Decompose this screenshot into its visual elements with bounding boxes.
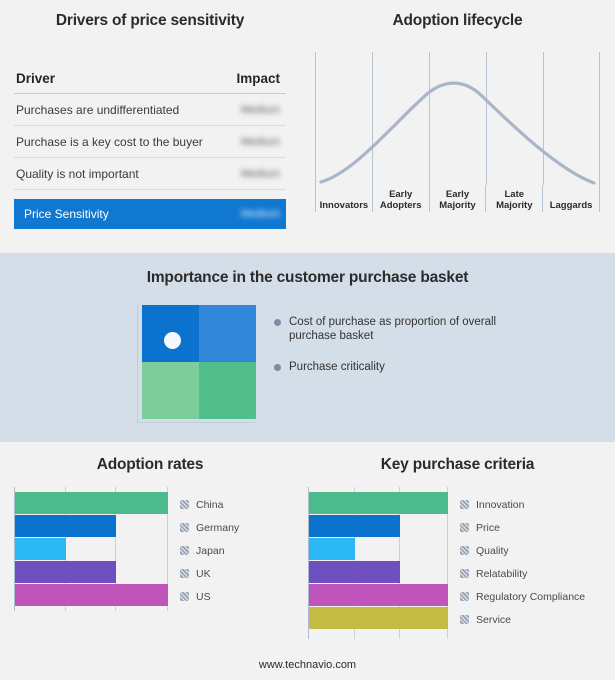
bar-uk[interactable] (15, 561, 116, 583)
basket-panel-title: Importance in the customer purchase bask… (0, 253, 615, 287)
legend-label: US (196, 591, 211, 603)
basket-legend: Cost of purchase as proportion of overal… (274, 315, 574, 391)
table-header-row: Driver Impact (14, 64, 286, 94)
quadrant-top-right[interactable] (199, 305, 256, 362)
legend-label: Regulatory Compliance (476, 591, 585, 603)
legend-item: Cost of purchase as proportion of overal… (274, 315, 574, 343)
bar-quality[interactable] (309, 538, 355, 560)
bullet-icon (274, 319, 281, 326)
column-header-driver: Driver (16, 71, 55, 86)
legend-item[interactable]: Price (460, 516, 585, 539)
adoption-rates-title: Adoption rates (0, 442, 300, 474)
driver-label: Purchases are undifferentiated (16, 103, 179, 117)
adoption-lifecycle-chart: Innovators EarlyAdopters EarlyMajority L… (315, 52, 600, 212)
key-purchase-criteria-legend: Innovation Price Quality Relatability (460, 493, 585, 631)
legend-item: Purchase criticality (274, 360, 574, 374)
bar-row[interactable] (309, 538, 448, 560)
legend-label: UK (196, 568, 211, 580)
impact-value-redacted: Medium (241, 136, 280, 148)
bar-row[interactable] (309, 515, 448, 537)
bar-row[interactable] (309, 561, 448, 583)
legend-item[interactable]: Service (460, 608, 585, 631)
bar-row[interactable] (309, 607, 448, 629)
footer-url: www.technavio.com (0, 659, 615, 671)
hatch-swatch-icon (180, 592, 189, 601)
legend-item[interactable]: UK (180, 562, 239, 585)
key-purchase-criteria-panel: Key purchase criteria (300, 442, 615, 680)
legend-item[interactable]: Quality (460, 539, 585, 562)
table-row[interactable]: Quality is not important Medium (14, 158, 286, 190)
lifecycle-panel-title: Adoption lifecycle (300, 0, 615, 30)
table-row[interactable]: Purchases are undifferentiated Medium (14, 94, 286, 126)
hatch-swatch-icon (460, 569, 469, 578)
top-section: Drivers of price sensitivity Driver Impa… (0, 0, 615, 253)
legend-item[interactable]: Relatability (460, 562, 585, 585)
lifecycle-segment-late-majority: LateMajority (485, 185, 542, 212)
segment-label: Laggards (550, 200, 593, 211)
bar-price[interactable] (309, 515, 400, 537)
legend-label: Germany (196, 522, 239, 534)
legend-item[interactable]: Regulatory Compliance (460, 585, 585, 608)
segment-label: Innovators (320, 200, 369, 211)
bar-innovation[interactable] (309, 492, 448, 514)
bar-row[interactable] (15, 492, 168, 514)
bar-service[interactable] (309, 607, 448, 629)
key-purchase-criteria-plot (308, 487, 448, 639)
column-header-impact: Impact (236, 71, 280, 86)
driver-label: Price Sensitivity (24, 207, 109, 221)
legend-label: Japan (196, 545, 225, 557)
quadrant-matrix (137, 305, 255, 423)
key-purchase-criteria-chart: Innovation Price Quality Relatability (308, 487, 615, 639)
bar-row[interactable] (15, 561, 168, 583)
drivers-table: Driver Impact Purchases are undifferenti… (14, 64, 286, 229)
impact-value-redacted: Medium (241, 104, 280, 116)
position-marker-dot (164, 332, 181, 349)
lifecycle-labels: Innovators EarlyAdopters EarlyMajority L… (315, 185, 600, 212)
legend-item[interactable]: China (180, 493, 239, 516)
lifecycle-segment-laggards: Laggards (542, 185, 600, 212)
impact-value-redacted: Medium (241, 208, 280, 220)
purchase-basket-section: Importance in the customer purchase bask… (0, 253, 615, 442)
segment-label-line1: Early (389, 189, 412, 200)
hatch-swatch-icon (460, 523, 469, 532)
bar-relatability[interactable] (309, 561, 400, 583)
segment-label-line1: Early (446, 189, 469, 200)
bar-germany[interactable] (15, 515, 116, 537)
bar-row[interactable] (15, 515, 168, 537)
bar-row[interactable] (309, 584, 448, 606)
hatch-swatch-icon (180, 500, 189, 509)
segment-label-line2: Majority (439, 200, 475, 211)
legend-item[interactable]: Innovation (460, 493, 585, 516)
legend-label: Service (476, 614, 511, 626)
bar-japan[interactable] (15, 538, 66, 560)
driver-label: Quality is not important (16, 167, 139, 181)
hatch-swatch-icon (460, 592, 469, 601)
table-row-highlighted[interactable]: Price Sensitivity Medium (14, 199, 286, 229)
hatch-swatch-icon (460, 546, 469, 555)
lifecycle-panel: Adoption lifecycle Innovators EarlyAdopt… (300, 0, 615, 253)
segment-label-line2: Adopters (380, 200, 422, 211)
adoption-rates-plot (14, 487, 168, 611)
legend-label: China (196, 499, 223, 511)
hatch-swatch-icon (180, 569, 189, 578)
legend-item[interactable]: Japan (180, 539, 239, 562)
bullet-icon (274, 364, 281, 371)
bottom-charts-section: Adoption rates (0, 442, 615, 680)
quadrant-bottom-left[interactable] (142, 362, 199, 419)
legend-label: Relatability (476, 568, 527, 580)
driver-label: Purchase is a key cost to the buyer (16, 135, 203, 149)
bell-curve (315, 52, 600, 185)
hatch-swatch-icon (460, 615, 469, 624)
segment-label-line1: Late (505, 189, 525, 200)
quadrant-bottom-right[interactable] (199, 362, 256, 419)
lifecycle-segment-innovators: Innovators (315, 185, 372, 212)
drivers-panel: Drivers of price sensitivity Driver Impa… (0, 0, 300, 253)
legend-label: Price (476, 522, 500, 534)
legend-item[interactable]: Germany (180, 516, 239, 539)
bar-regulatory-compliance[interactable] (309, 584, 448, 606)
impact-value-redacted: Medium (241, 168, 280, 180)
bar-china[interactable] (15, 492, 168, 514)
adoption-rates-chart: China Germany Japan UK (14, 487, 300, 611)
hatch-swatch-icon (180, 523, 189, 532)
key-purchase-criteria-title: Key purchase criteria (300, 442, 615, 474)
legend-label: Purchase criticality (289, 360, 385, 374)
lifecycle-segment-early-majority: EarlyMajority (429, 185, 486, 212)
hatch-swatch-icon (460, 500, 469, 509)
bar-row[interactable] (15, 538, 168, 560)
adoption-rates-legend: China Germany Japan UK (180, 493, 239, 608)
drivers-panel-title: Drivers of price sensitivity (0, 0, 300, 30)
adoption-rates-panel: Adoption rates (0, 442, 300, 680)
legend-item[interactable]: US (180, 585, 239, 608)
legend-label: Cost of purchase as proportion of overal… (289, 315, 519, 343)
bar-row[interactable] (15, 584, 168, 606)
hatch-swatch-icon (180, 546, 189, 555)
bar-us[interactable] (15, 584, 168, 606)
bar-row[interactable] (309, 492, 448, 514)
segment-label-line2: Majority (496, 200, 532, 211)
table-row[interactable]: Purchase is a key cost to the buyer Medi… (14, 126, 286, 158)
lifecycle-segment-early-adopters: EarlyAdopters (372, 185, 429, 212)
legend-label: Innovation (476, 499, 524, 511)
legend-label: Quality (476, 545, 509, 557)
